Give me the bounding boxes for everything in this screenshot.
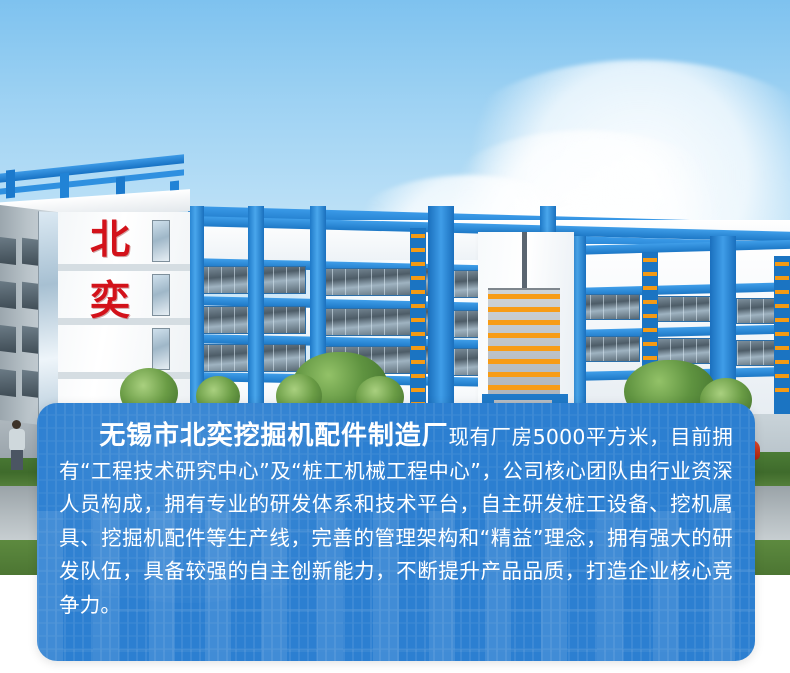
office-window <box>152 274 170 316</box>
hall-pillar-wide <box>428 206 454 414</box>
building-sign-char-bottom: 奕 <box>90 281 130 321</box>
company-description-panel: 无锡市北奕挖掘机配件制造厂现有厂房5000平方米，目前拥有“工程技术研究中心”及… <box>37 403 755 661</box>
building-sign-char-top: 北 <box>90 220 130 260</box>
hall-pillar <box>248 206 264 414</box>
roller-shutter-door <box>488 288 560 398</box>
company-body-text: 现有厂房5000平方米，目前拥有“工程技术研究中心”及“桩工机械工程中心”，公司… <box>59 425 733 617</box>
tower-seam <box>522 232 527 290</box>
company-name: 无锡市北奕挖掘机配件制造厂 <box>99 421 448 451</box>
office-window <box>152 220 170 262</box>
company-intro-banner: 北 奕 无锡市北奕挖掘机配件制造厂现有厂房5000平方米，目前拥有“工程技术研究… <box>0 0 790 673</box>
office-window <box>152 328 170 370</box>
ladder-rungs <box>774 256 790 414</box>
company-description-text: 无锡市北奕挖掘机配件制造厂现有厂房5000平方米，目前拥有“工程技术研究中心”及… <box>59 420 733 622</box>
ladder-rungs <box>410 228 426 414</box>
factory-entrance-tower <box>478 232 574 414</box>
